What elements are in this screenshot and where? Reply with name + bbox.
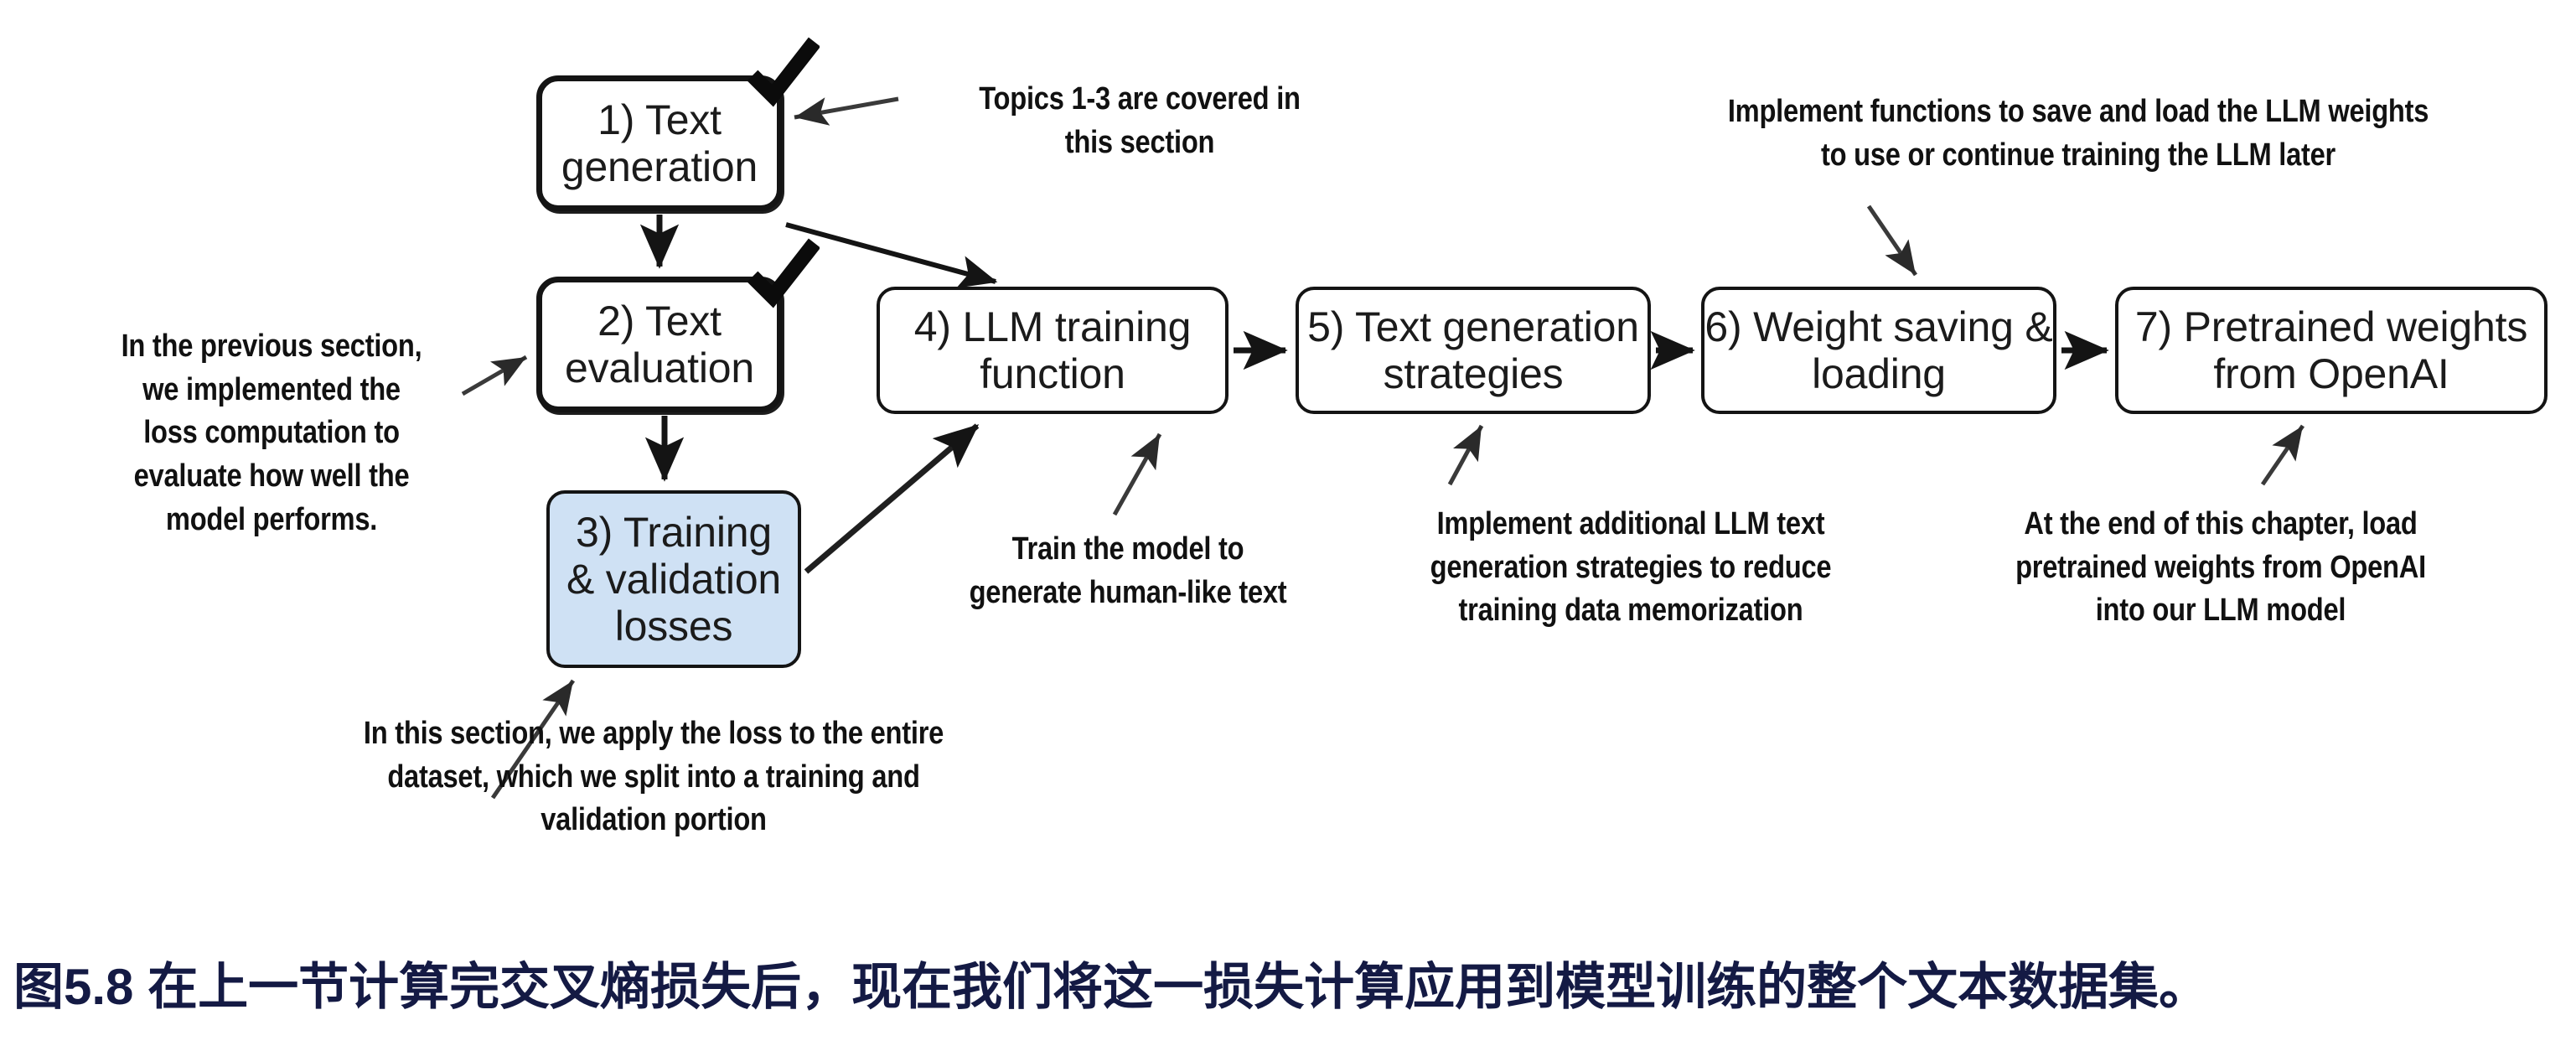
note-topics: Topics 1-3 are covered in this section	[945, 78, 1334, 164]
leader-trainmodel-to-node4	[1115, 434, 1160, 515]
process-box-label: 4) LLM training function	[914, 303, 1192, 397]
process-box-7: 7) Pretrained weights from OpenAI	[2115, 287, 2548, 414]
note-openai: At the end of this chapter, load pretrai…	[1997, 503, 2444, 633]
process-box-label: 2) Text evaluation	[565, 298, 754, 391]
process-box-2: 2) Text evaluation	[536, 277, 783, 412]
checkmark-icon	[747, 37, 820, 109]
process-box-6: 6) Weight saving & loading	[1701, 287, 2056, 414]
leader-saveload-to-node6	[1869, 206, 1916, 275]
leader-previous-to-node2	[463, 357, 526, 394]
process-box-4: 4) LLM training function	[877, 287, 1229, 414]
leader-openai-to-node7	[2263, 426, 2303, 484]
note-previous-section: In the previous section, we implemented …	[113, 325, 430, 541]
note-save-load: Implement functions to save and load the…	[1696, 91, 2460, 177]
figure-canvas: 1) Text generation2) Text evaluation3) T…	[0, 0, 2576, 1046]
process-box-label: 7) Pretrained weights from OpenAI	[2135, 303, 2527, 397]
leader-strategies-to-node5	[1450, 426, 1482, 484]
process-box-label: 6) Weight saving & loading	[1704, 303, 2052, 397]
process-box-label: 1) Text generation	[561, 96, 758, 190]
process-box-label: 3) Training & validation losses	[566, 509, 781, 650]
process-box-1: 1) Text generation	[536, 75, 783, 211]
process-box-5: 5) Text generation strategies	[1296, 287, 1651, 414]
note-this-section: In this section, we apply the loss to th…	[329, 712, 978, 842]
note-train-model: Train the model to generate human-like t…	[948, 528, 1308, 614]
checkmark-icon	[747, 238, 820, 310]
process-box-label: 5) Text generation strategies	[1307, 303, 1639, 397]
process-box-3: 3) Training & validation losses	[546, 490, 801, 668]
note-strategies: Implement additional LLM text generation…	[1407, 503, 1854, 633]
figure-caption: 图5.8 在上一节计算完交叉熵损失后，现在我们将这一损失计算应用到模型训练的整个…	[13, 962, 2561, 1012]
